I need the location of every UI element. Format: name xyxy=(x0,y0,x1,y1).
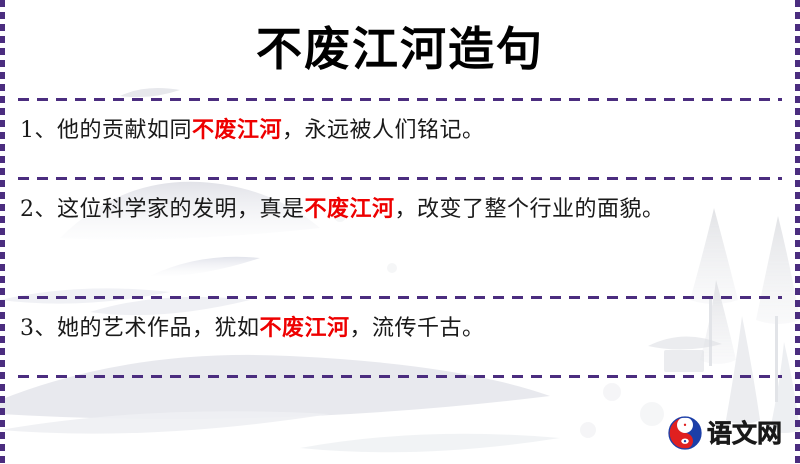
divider-bottom xyxy=(18,375,782,378)
sentence-item-3: 3、她的艺术作品，犹如不废江河，流传千古。 xyxy=(18,299,782,375)
sentence-index-2: 2、 xyxy=(20,197,57,222)
idiom-highlight-1: 不废江河 xyxy=(192,117,282,143)
page-root: 不废江河造句 1、他的贡献如同不废江河，永远被人们铭记。 2、这位科学家的发明，… xyxy=(0,0,800,464)
sentence-item-1: 1、他的贡献如同不废江河，永远被人们铭记。 xyxy=(18,101,782,177)
idiom-highlight-3: 不废江河 xyxy=(260,315,350,341)
sentence-text-before-1: 他的贡献如同 xyxy=(57,118,192,143)
page-title: 不废江河造句 xyxy=(256,26,544,72)
site-logo-text: 语文网 xyxy=(707,421,782,446)
sentence-index-3: 3、 xyxy=(20,316,57,341)
title-row: 不废江河造句 xyxy=(18,0,782,98)
sentence-index-1: 1、 xyxy=(20,118,57,143)
left-dashed-border xyxy=(0,0,5,464)
sentence-text-after-3: ，流传千古。 xyxy=(350,316,485,341)
sentence-text-after-2: ，改变了整个行业的面貌。 xyxy=(395,197,665,222)
site-logo[interactable]: 语文网 xyxy=(668,416,782,450)
sentence-text-before-3: 她的艺术作品，犹如 xyxy=(57,316,260,341)
sentence-text-after-1: ，永远被人们铭记。 xyxy=(282,118,485,143)
yinyang-circle-icon xyxy=(668,416,702,450)
sentence-text-before-2: 这位科学家的发明，真是 xyxy=(57,197,305,222)
sentence-item-2: 2、这位科学家的发明，真是不废江河，改变了整个行业的面貌。 xyxy=(18,180,782,296)
content-column: 不废江河造句 1、他的贡献如同不废江河，永远被人们铭记。 2、这位科学家的发明，… xyxy=(0,0,800,464)
right-dashed-border xyxy=(795,0,800,464)
idiom-highlight-2: 不废江河 xyxy=(305,196,395,222)
